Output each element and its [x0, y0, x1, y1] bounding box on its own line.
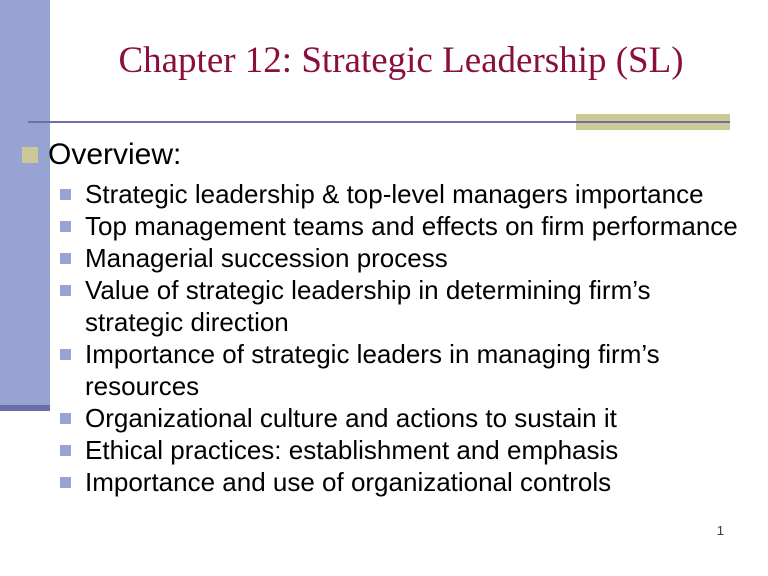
title-divider-rule [28, 121, 730, 123]
list-item-label: Value of strategic leadership in determi… [85, 274, 748, 338]
square-bullet-icon [60, 253, 71, 264]
square-bullet-icon [60, 285, 71, 296]
list-item-label: Ethical practices: establishment and emp… [85, 434, 748, 466]
list-item-label: Importance of strategic leaders in manag… [85, 338, 748, 402]
list-item-label: Top management teams and effects on firm… [85, 210, 748, 242]
list-item-label: Importance and use of organizational con… [85, 466, 748, 498]
overview-heading-label: Overview: [48, 138, 181, 171]
list-item: Managerial succession process [0, 242, 768, 274]
square-bullet-icon [60, 413, 71, 424]
list-item: Importance and use of organizational con… [0, 466, 768, 498]
square-bullet-icon [60, 221, 71, 232]
list-item-label: Managerial succession process [85, 242, 748, 274]
list-item-label: Organizational culture and actions to su… [85, 402, 748, 434]
slide-body: Overview: Strategic leadership & top-lev… [0, 136, 768, 498]
list-item: Importance of strategic leaders in manag… [0, 338, 768, 402]
slide-title: Chapter 12: Strategic Leadership (SL) [56, 38, 746, 84]
square-bullet-icon [22, 147, 38, 163]
slide-canvas: Chapter 12: Strategic Leadership (SL) Ov… [0, 0, 768, 576]
square-bullet-icon [60, 445, 71, 456]
list-item: Value of strategic leadership in determi… [0, 274, 768, 338]
square-bullet-icon [60, 477, 71, 488]
overview-heading-row: Overview: [0, 136, 768, 174]
list-item: Top management teams and effects on firm… [0, 210, 768, 242]
list-item: Strategic leadership & top-level manager… [0, 178, 768, 210]
page-number: 1 [717, 523, 724, 538]
list-item-label: Strategic leadership & top-level manager… [85, 178, 748, 210]
list-item: Ethical practices: establishment and emp… [0, 434, 768, 466]
square-bullet-icon [60, 349, 71, 360]
square-bullet-icon [60, 189, 71, 200]
list-item: Organizational culture and actions to su… [0, 402, 768, 434]
